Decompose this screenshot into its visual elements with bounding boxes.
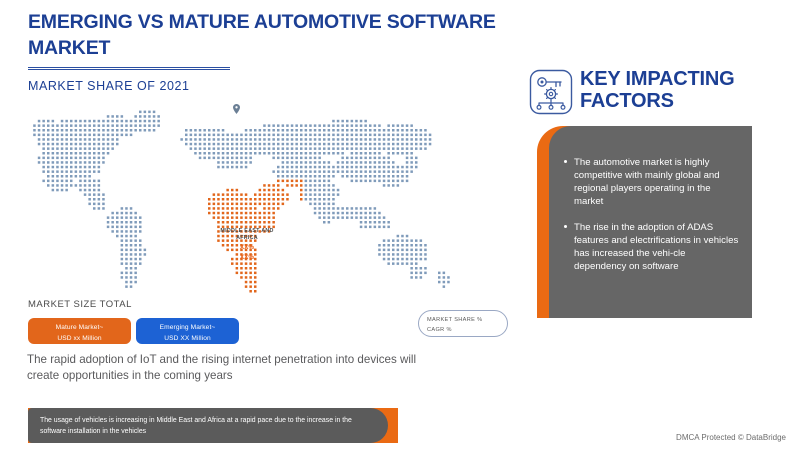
map-pin-icon <box>233 101 240 111</box>
list-item-label: The rise in the adoption of ADAS feature… <box>574 222 738 272</box>
page-title: EMERGING VS MATURE AUTOMOTIVE SOFTWARE M… <box>28 10 498 61</box>
title-divider <box>28 67 230 70</box>
world-dot-map <box>18 100 498 300</box>
legend-pill-mature-market: Mature Market~ USD xx Million <box>28 318 131 344</box>
legend-emerging-line1: Emerging Market~ <box>136 323 239 334</box>
legend-emerging-line2: USD XX Million <box>136 334 239 345</box>
key-gear-network-icon <box>529 69 573 115</box>
list-item-label: The automotive market is highly competit… <box>574 157 720 207</box>
legend-mature-line1: Mature Market~ <box>28 323 131 334</box>
header-block: EMERGING VS MATURE AUTOMOTIVE SOFTWARE M… <box>28 10 498 93</box>
map-dots-svg <box>18 100 498 305</box>
bottom-bar-note: The usage of vehicles is increasing in M… <box>28 408 388 443</box>
page-subtitle: MARKET SHARE OF 2021 <box>28 79 498 93</box>
list-item: The automotive market is highly competit… <box>563 156 740 208</box>
key-impacting-factors-title: KEY IMPACTING FACTORS <box>580 68 770 112</box>
bullet-icon <box>564 160 567 163</box>
market-size-total-label: MARKET SIZE TOTAL <box>28 299 132 310</box>
legend-mature-line2: USD xx Million <box>28 334 131 345</box>
footer-credit: DMCA Protected © DataBridge <box>676 433 786 442</box>
callout-line-cagr: CAGR % <box>427 325 507 335</box>
legend-pill-emerging-market: Emerging Market~ USD XX Million <box>136 318 239 344</box>
map-region-label: MIDDLE EAST AND AFRICA <box>212 228 282 242</box>
map-region-value-2: XX% <box>212 253 282 263</box>
list-item: The rise in the adoption of ADAS feature… <box>563 221 740 273</box>
bullet-icon <box>564 225 567 228</box>
market-share-callout: MARKET SHARE % CAGR % <box>418 310 508 337</box>
map-region-value-1: XX% <box>212 243 282 253</box>
callout-line-market-share: MARKET SHARE % <box>427 315 507 325</box>
lead-paragraph: The rapid adoption of IoT and the rising… <box>27 352 447 385</box>
key-factors-panel: The automotive market is highly competit… <box>549 126 752 318</box>
map-region-values: XX% XX% <box>212 243 282 262</box>
